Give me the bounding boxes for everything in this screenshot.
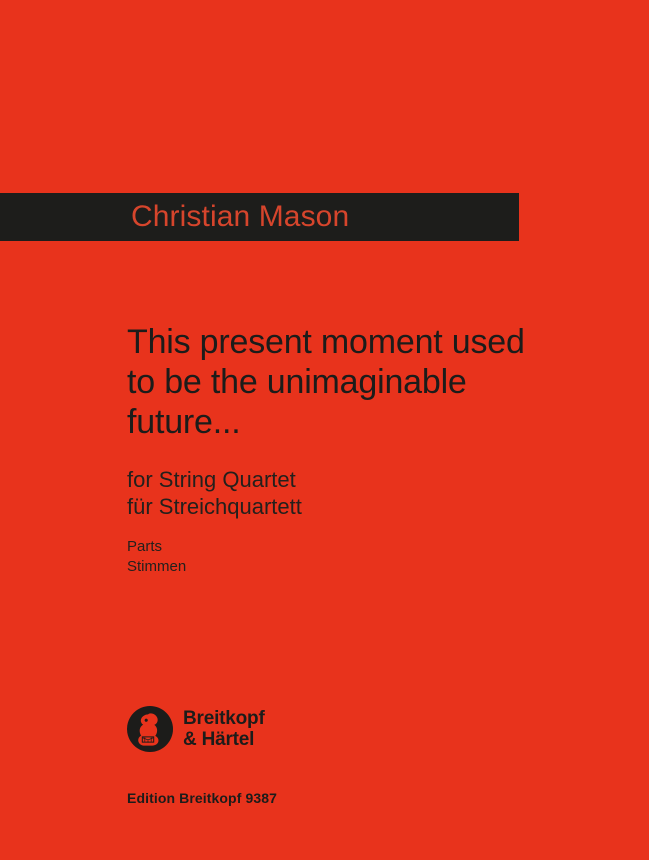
composer-banner: Christian Mason	[0, 193, 519, 241]
breitkopf-bear-emblem-icon	[127, 706, 173, 752]
composer-name: Christian Mason	[131, 202, 349, 232]
publisher-wordmark: Breitkopf & Härtel	[183, 708, 265, 750]
work-title-line-2: to be the unimaginable	[127, 362, 557, 402]
edition-type-text: Parts Stimmen	[127, 537, 557, 577]
edition-type-german: Stimmen	[127, 557, 557, 577]
publisher-logo: Breitkopf & Härtel	[127, 706, 265, 752]
publisher-name-line-1: Breitkopf	[183, 708, 265, 729]
publisher-name-line-2: & Härtel	[183, 729, 265, 750]
edition-number: Edition Breitkopf 9387	[127, 789, 277, 807]
scoring-text: for String Quartet für Streichquartett	[127, 466, 557, 520]
scoring-english: for String Quartet	[127, 466, 557, 493]
sheet-music-cover: Christian Mason This present moment used…	[0, 0, 649, 860]
work-title-line-1: This present moment used	[127, 322, 557, 362]
scoring-german: für Streichquartett	[127, 493, 557, 520]
work-title: This present moment used to be the unima…	[127, 322, 557, 442]
title-block: This present moment used to be the unima…	[127, 322, 557, 577]
edition-type-english: Parts	[127, 537, 557, 557]
work-title-line-3: future...	[127, 402, 557, 442]
